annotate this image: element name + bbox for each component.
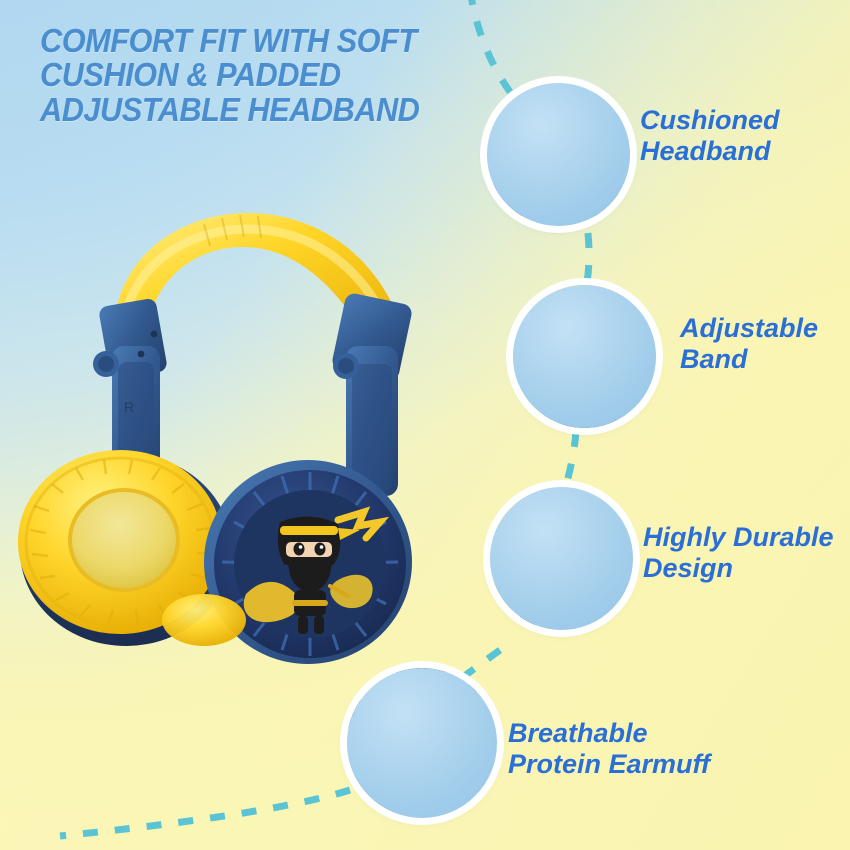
headline-line-2: CUSHION & PADDED — [40, 58, 477, 92]
infographic-canvas: COMFORT FIT WITH SOFT CUSHION & PADDED A… — [0, 0, 850, 850]
page-title: COMFORT FIT WITH SOFT CUSHION & PADDED A… — [40, 24, 477, 127]
label-line-2: Headband — [640, 136, 780, 167]
label-line-1: Breathable — [508, 718, 710, 749]
label-breathable-protein-earmuff: Breathable Protein Earmuff — [508, 718, 710, 781]
label-adjustable-band: Adjustable Band — [680, 313, 818, 376]
product-image-headphones: R — [8, 150, 448, 690]
label-line-2: Protein Earmuff — [508, 749, 710, 780]
label-line-1: Cushioned — [640, 105, 780, 136]
left-yoke — [331, 292, 414, 496]
headphones-illustration: R — [8, 150, 448, 690]
detail-inset-breathable-protein-earmuff[interactable] — [347, 668, 497, 818]
detail-inset-highly-durable-design[interactable] — [490, 487, 633, 630]
detail-inset-adjustable-band[interactable] — [513, 285, 656, 428]
detail-inset-cushioned-headband[interactable] — [487, 83, 630, 226]
label-cushioned-headband: Cushioned Headband — [640, 105, 780, 168]
label-line-2: Band — [680, 344, 818, 375]
label-line-1: Adjustable — [680, 313, 818, 344]
label-line-2: Design — [643, 553, 834, 584]
headline-line-3: ADJUSTABLE HEADBAND — [40, 93, 477, 127]
headline-line-1: COMFORT FIT WITH SOFT — [40, 24, 477, 58]
right-channel-marking: R — [124, 399, 134, 415]
label-highly-durable-design: Highly Durable Design — [643, 522, 834, 585]
label-line-1: Highly Durable — [643, 522, 834, 553]
